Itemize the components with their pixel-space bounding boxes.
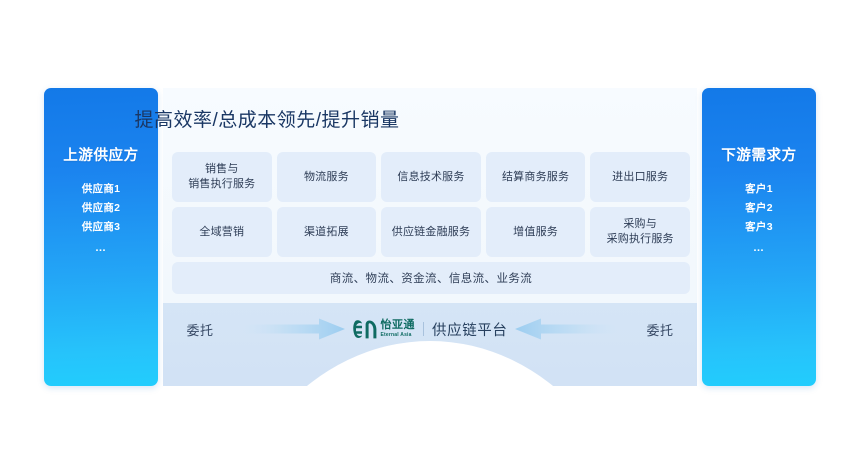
service-card-line: 进出口服务: [612, 170, 668, 185]
brand-logo[interactable]: 怡亚通 Eternal Asia: [353, 320, 416, 339]
upstream-supplier-list: 供应商1 供应商2 供应商3 …: [44, 180, 158, 259]
list-item: 供应商1: [44, 180, 158, 199]
downstream-demand-panel: 下游需求方 客户1 客户2 客户3 …: [702, 88, 816, 386]
delegate-label-right: 委托: [623, 320, 697, 339]
service-card-line: 采购与: [607, 217, 674, 232]
brand-divider: [423, 322, 424, 336]
service-card-row-2: 全域营销 渠道拓展 供应链金融服务 增值服务 采购与采购执行服务: [172, 207, 690, 257]
delegate-row: 委托 怡亚通: [163, 305, 697, 353]
list-item: 客户3: [702, 218, 816, 237]
ea-monogram-icon: [353, 320, 377, 339]
brand-name-en: Eternal Asia: [381, 333, 416, 338]
brand-name-cn: 怡亚通: [381, 320, 416, 331]
service-card[interactable]: 销售与销售执行服务: [172, 152, 272, 202]
service-card[interactable]: 结算商务服务: [486, 152, 586, 202]
upstream-supplier-panel: 上游供应方 供应商1 供应商2 供应商3 …: [44, 88, 158, 386]
list-item: 客户2: [702, 199, 816, 218]
service-card[interactable]: 信息技术服务: [381, 152, 481, 202]
brand-text: 怡亚通 Eternal Asia: [381, 320, 416, 338]
delegate-label-left: 委托: [163, 320, 237, 339]
service-card[interactable]: 全域营销: [172, 207, 272, 257]
service-card[interactable]: 供应链金融服务: [381, 207, 481, 257]
service-card-line: 供应链金融服务: [392, 225, 470, 240]
list-item-ellipsis: …: [44, 237, 158, 259]
service-card-line: 全域营销: [199, 225, 244, 240]
upstream-panel-title: 上游供应方: [44, 144, 158, 165]
service-card[interactable]: 增值服务: [486, 207, 586, 257]
service-card-line: 销售执行服务: [188, 177, 255, 192]
service-card[interactable]: 渠道拓展: [277, 207, 377, 257]
arrow-left-icon: [515, 318, 623, 340]
business-flow-label: 商流、物流、资金流、信息流、业务流: [330, 270, 532, 286]
service-card-line: 销售与: [188, 162, 255, 177]
arrow-right-icon: [237, 318, 345, 340]
service-card[interactable]: 物流服务: [277, 152, 377, 202]
service-card[interactable]: 进出口服务: [590, 152, 690, 202]
list-item: 客户1: [702, 180, 816, 199]
downstream-customer-list: 客户1 客户2 客户3 …: [702, 180, 816, 259]
service-card-line: 信息技术服务: [397, 170, 464, 185]
business-flow-strip[interactable]: 商流、物流、资金流、信息流、业务流: [172, 262, 690, 294]
list-item: 供应商3: [44, 218, 158, 237]
page-title: 提高效率/总成本领先/提升销量: [0, 105, 534, 132]
service-card-row-1: 销售与销售执行服务 物流服务 信息技术服务 结算商务服务 进出口服务: [172, 152, 690, 202]
list-item: 供应商2: [44, 199, 158, 218]
service-card-line: 渠道拓展: [304, 225, 349, 240]
platform-name: 供应链平台: [432, 319, 508, 340]
service-card-line: 采购执行服务: [607, 232, 674, 247]
downstream-panel-title: 下游需求方: [702, 144, 816, 165]
service-card-line: 结算商务服务: [502, 170, 569, 185]
service-card-line: 物流服务: [304, 170, 349, 185]
service-card-line: 增值服务: [513, 225, 558, 240]
platform-brand-block: 怡亚通 Eternal Asia 供应链平台: [345, 319, 515, 340]
service-card[interactable]: 采购与采购执行服务: [590, 207, 690, 257]
list-item-ellipsis: …: [702, 237, 816, 259]
supply-chain-diagram: 上游供应方 供应商1 供应商2 供应商3 … 提高效率/总成本领先/提升销量 销…: [0, 0, 850, 460]
